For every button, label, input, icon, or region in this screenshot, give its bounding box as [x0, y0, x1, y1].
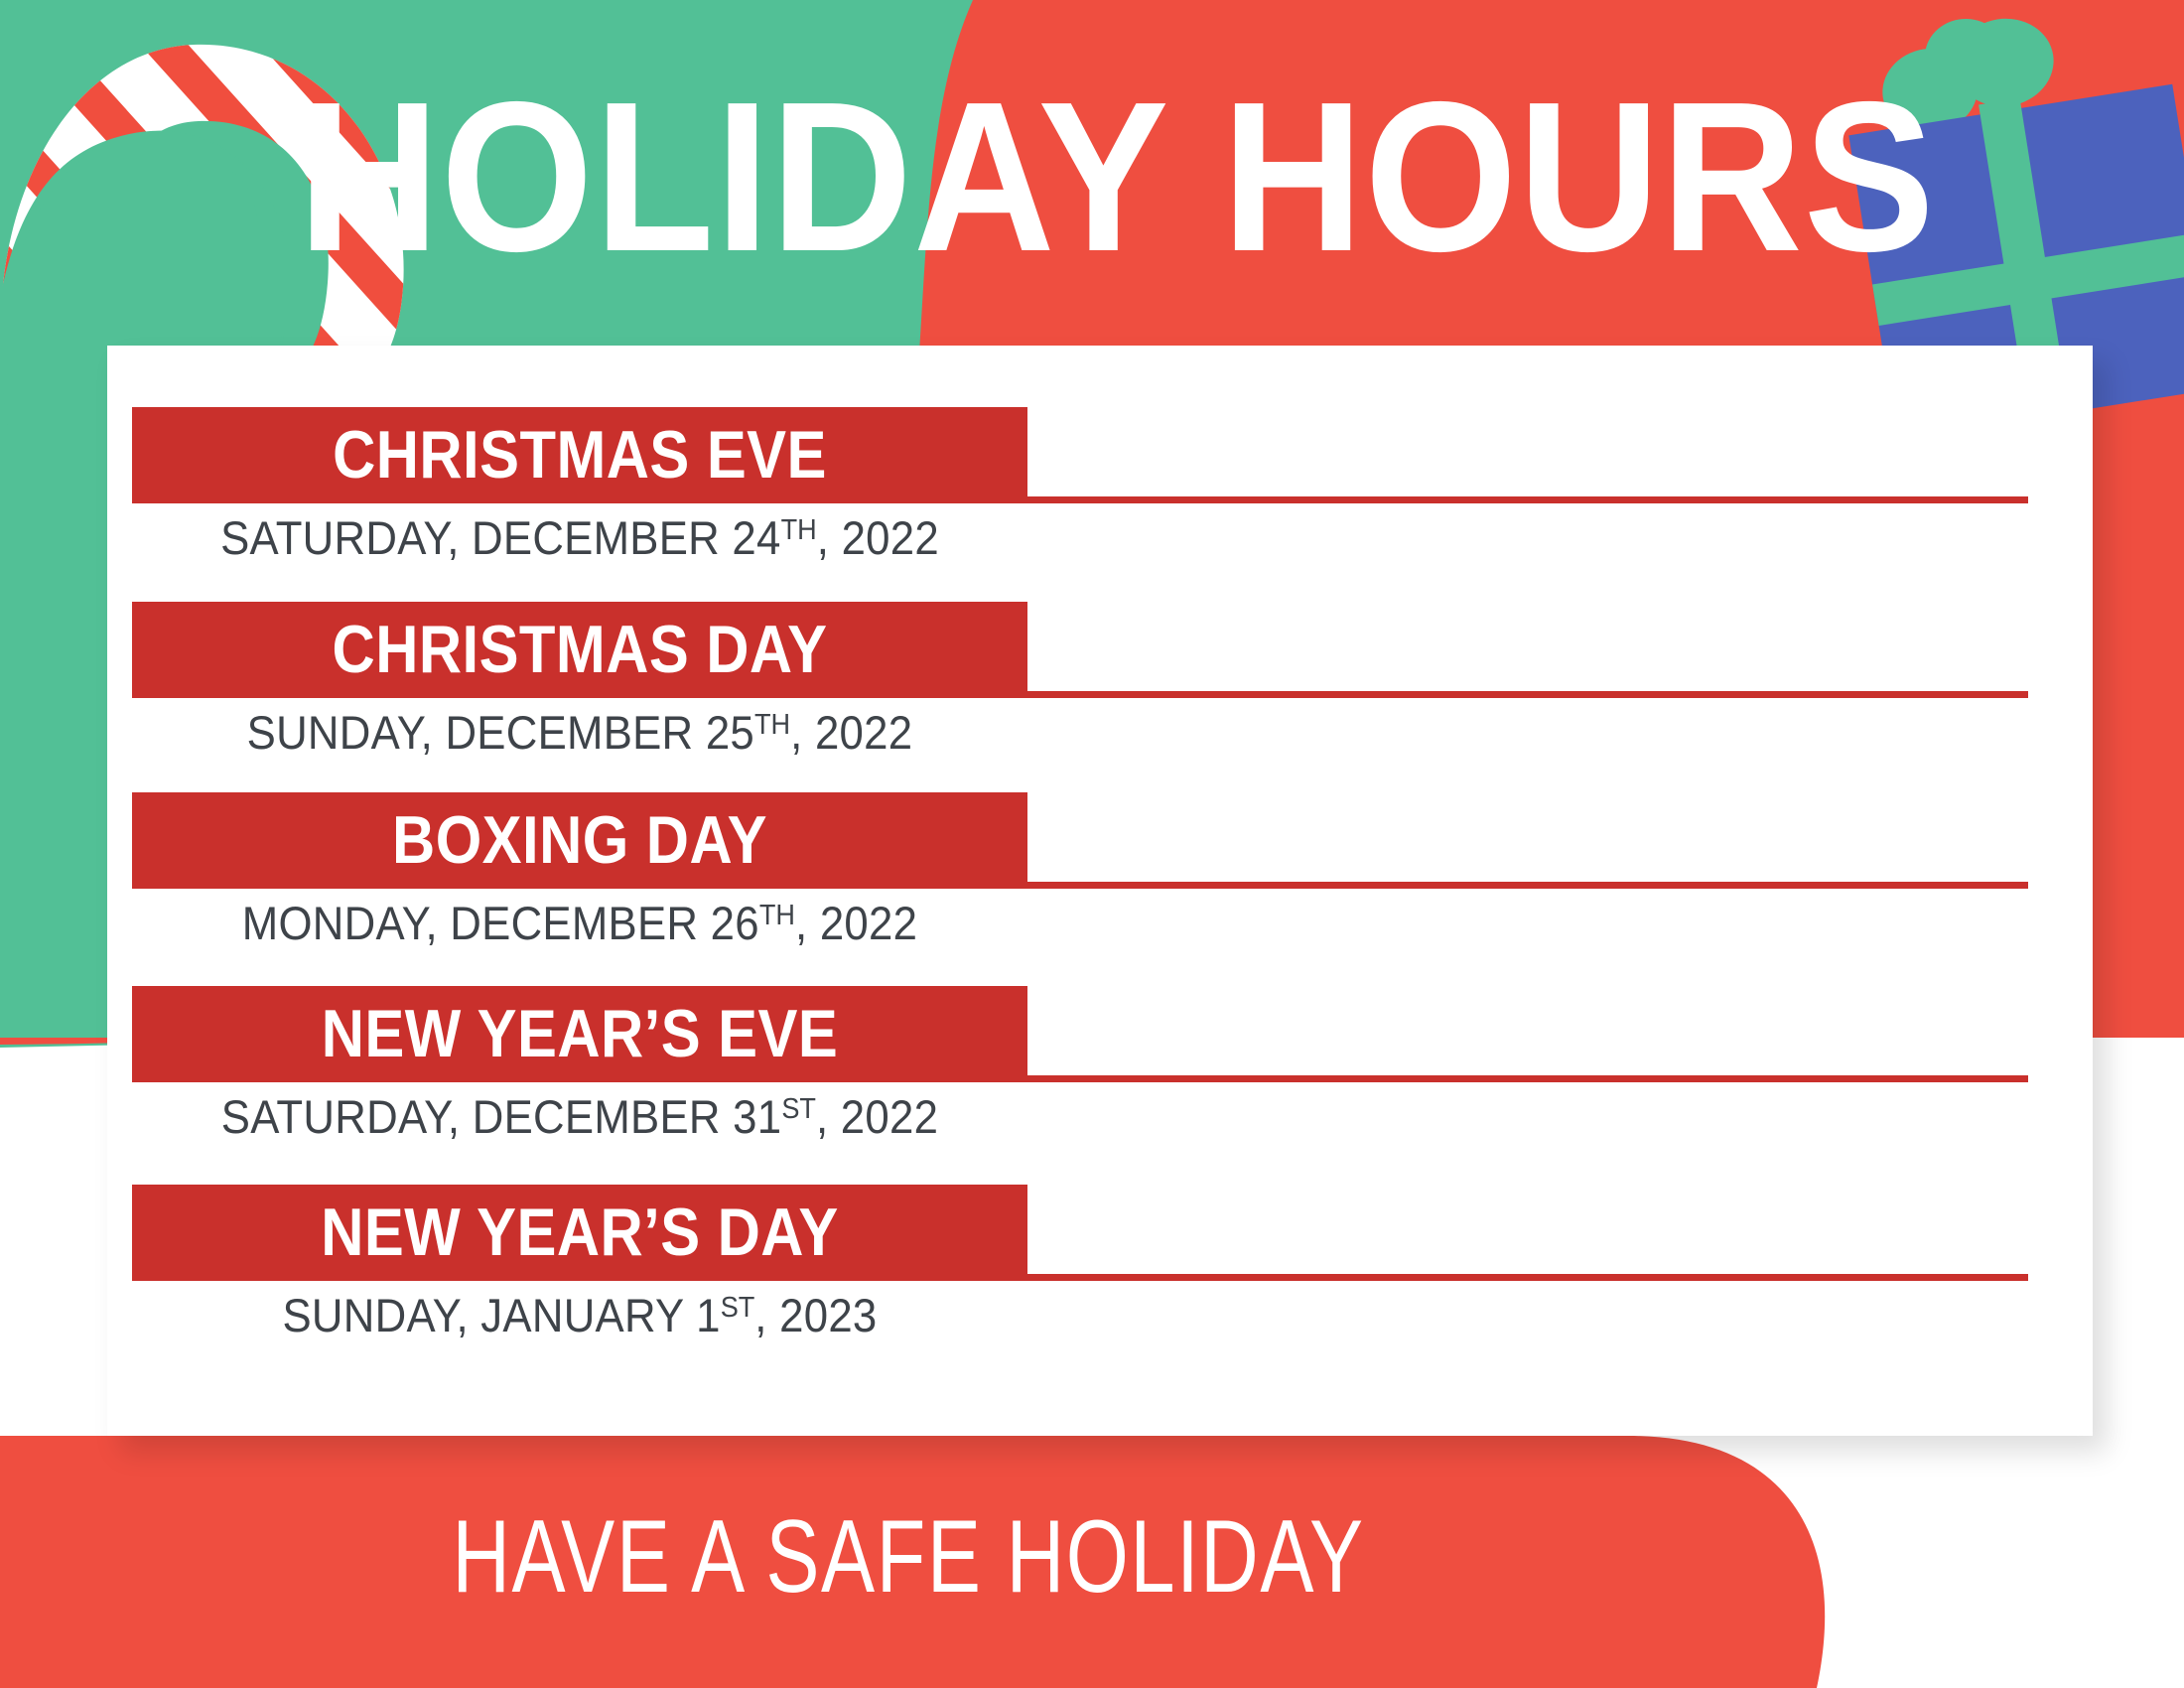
- holiday-name-band: NEW YEAR’S DAY: [132, 1185, 1027, 1281]
- holiday-date-year: , 2022: [817, 511, 939, 564]
- holiday-rule: [1027, 691, 2028, 698]
- holiday-rule: [1027, 1075, 2028, 1082]
- holiday-date-weekday: SUNDAY, JANUARY 1: [282, 1289, 720, 1341]
- holiday-date: SATURDAY, DECEMBER 24TH, 2022: [164, 510, 997, 565]
- holiday-hours-poster: HOLIDAY HOURS CHRISTMAS EVE SATURDAY, DE…: [0, 0, 2184, 1688]
- holiday-name-band: CHRISTMAS DAY: [132, 602, 1027, 698]
- holiday-date-weekday: SATURDAY, DECEMBER 24: [220, 511, 781, 564]
- holiday-rule: [1027, 1274, 2028, 1281]
- holiday-date-ordinal: ST: [721, 1292, 755, 1324]
- holiday-name: BOXING DAY: [186, 792, 974, 889]
- holiday-name-band: BOXING DAY: [132, 792, 1027, 889]
- footer-message: HAVE A SAFE HOLIDAY: [200, 1505, 1616, 1609]
- holiday-hours-card: CHRISTMAS EVE SATURDAY, DECEMBER 24TH, 2…: [107, 346, 2093, 1436]
- holiday-date-year: , 2022: [795, 897, 917, 949]
- holiday-name: NEW YEAR’S EVE: [186, 986, 974, 1082]
- holiday-date: MONDAY, DECEMBER 26TH, 2022: [164, 896, 997, 950]
- holiday-name-band: NEW YEAR’S EVE: [132, 986, 1027, 1082]
- holiday-date-ordinal: TH: [759, 900, 795, 931]
- holiday-date: SUNDAY, DECEMBER 25TH, 2022: [164, 705, 997, 760]
- holiday-name: CHRISTMAS EVE: [186, 407, 974, 503]
- holiday-name: NEW YEAR’S DAY: [186, 1185, 974, 1281]
- holiday-date-ordinal: TH: [781, 514, 817, 546]
- holiday-name-band: CHRISTMAS EVE: [132, 407, 1027, 503]
- holiday-list: CHRISTMAS EVE SATURDAY, DECEMBER 24TH, 2…: [132, 346, 2093, 1436]
- holiday-date-weekday: SUNDAY, DECEMBER 25: [247, 706, 754, 759]
- holiday-date-year: , 2022: [816, 1090, 938, 1143]
- holiday-rule: [1027, 496, 2028, 503]
- holiday-date-ordinal: ST: [781, 1093, 816, 1125]
- holiday-name: CHRISTMAS DAY: [186, 602, 974, 698]
- holiday-rule: [1027, 882, 2028, 889]
- holiday-date-year: , 2022: [790, 706, 912, 759]
- holiday-date-weekday: MONDAY, DECEMBER 26: [242, 897, 759, 949]
- holiday-date: SUNDAY, JANUARY 1ST, 2023: [164, 1288, 997, 1342]
- holiday-date-ordinal: TH: [754, 709, 790, 741]
- holiday-date-weekday: SATURDAY, DECEMBER 31: [221, 1090, 782, 1143]
- holiday-date-year: , 2023: [754, 1289, 877, 1341]
- page-title: HOLIDAY HOURS: [298, 77, 1850, 276]
- holiday-date: SATURDAY, DECEMBER 31ST, 2022: [164, 1089, 997, 1144]
